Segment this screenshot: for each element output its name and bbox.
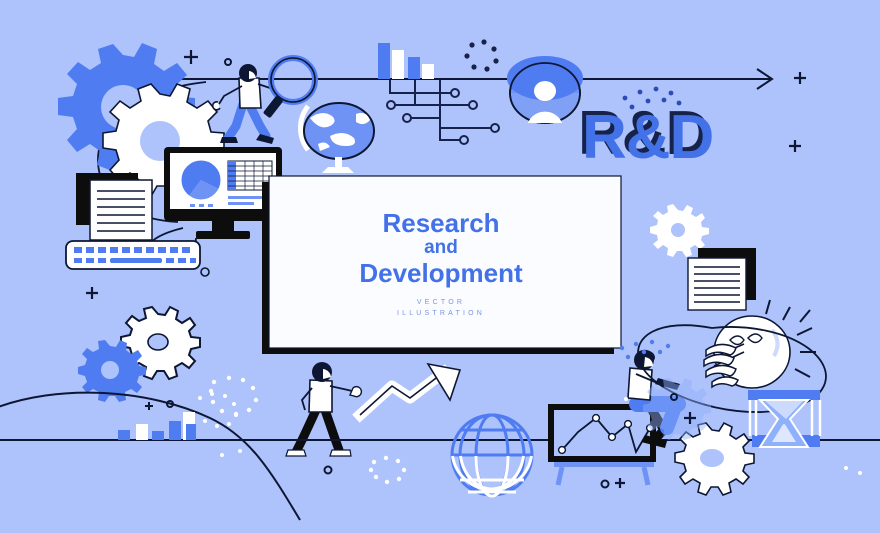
keyboard [66, 241, 200, 269]
white-board [269, 176, 621, 348]
document-sheet-right [688, 258, 746, 310]
avatar-circle [507, 56, 583, 123]
research-development-illustration [0, 0, 880, 533]
document-sheet-left [90, 180, 152, 240]
illustration-canvas: Research and Development VECTOR ILLUSTRA… [0, 0, 880, 533]
